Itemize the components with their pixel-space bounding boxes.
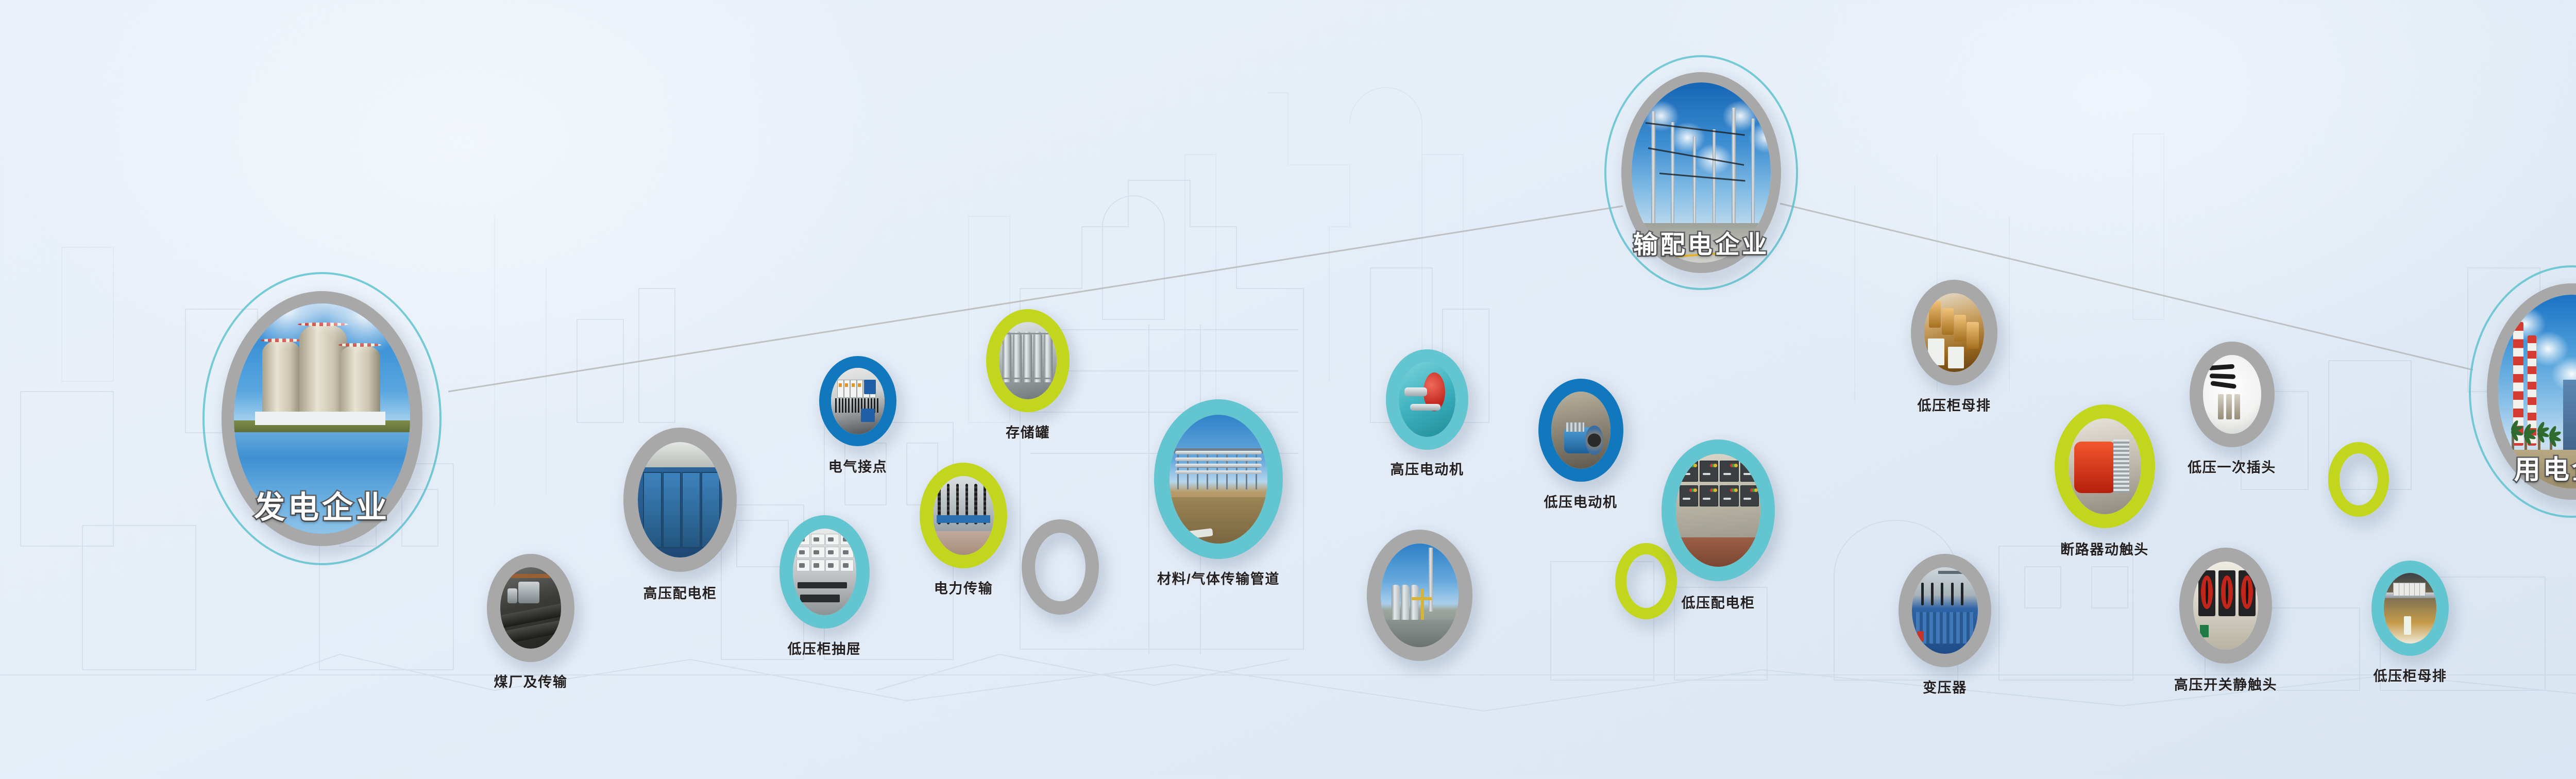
equipment-node-lv-primary-plug[interactable]: 低压一次插头 [2190, 342, 2275, 447]
equipment-label-lv-switchgear: 低压配电柜 [1681, 591, 1755, 612]
hero-node-power-consumer[interactable]: 用电企业 [2487, 283, 2576, 500]
equipment-label-hv-switchgear: 高压配电柜 [643, 582, 717, 602]
equipment-node-lv-switchgear[interactable]: 低压配电柜 [1662, 439, 1775, 581]
equipment-label-hv-motor: 高压电动机 [1390, 458, 1464, 478]
node-ring-green [2328, 442, 2389, 517]
equipment-node-lv-busbar-top[interactable]: 低压柜母排 [1911, 280, 1997, 385]
equipment-label-electrical-contact: 电气接点 [828, 455, 887, 476]
node-photo-lv-motor [1551, 392, 1611, 469]
equipment-label-hv-static-contact: 高压开关静触头 [2174, 673, 2277, 693]
equipment-node-hv-motor[interactable]: 高压电动机 [1386, 349, 1468, 450]
node-photo-hv-static-contact [2193, 562, 2258, 650]
node-photo-material-pipeline [1170, 415, 1267, 544]
equipment-label-coal-plant: 煤厂及传输 [494, 671, 567, 691]
equipment-node-breaker-contact[interactable]: 断路器动触头 [2055, 404, 2155, 528]
equipment-label-lv-busbar-top: 低压柜母排 [1917, 394, 1991, 414]
node-photo-breaker-contact [2069, 418, 2141, 514]
infographic-canvas: 煤厂及传输高压配电柜低压柜抽屉电气接点存储罐电力传输材料/气体传输管道高压电动机… [0, 0, 2576, 779]
node-photo-hv-motor [1399, 362, 1455, 437]
equipment-label-lv-drawer: 低压柜抽屉 [787, 638, 861, 658]
equipment-node-lv-motor[interactable]: 低压电动机 [1538, 379, 1623, 482]
equipment-node-lv-busbar-right[interactable]: 低压柜母排 [2371, 561, 2449, 656]
decorative-ring-decor-ring-green-right [2328, 442, 2389, 517]
node-photo-hv-switchgear [638, 442, 722, 557]
equipment-node-electrical-contact[interactable]: 电气接点 [819, 356, 896, 446]
equipment-node-storage-tank[interactable]: 存储罐 [986, 309, 1070, 412]
equipment-node-hv-static-contact[interactable]: 高压开关静触头 [2179, 548, 2272, 664]
equipment-node-power-transmission[interactable]: 电力传输 [920, 463, 1007, 568]
link-transmission-to-consumer [1780, 204, 2473, 370]
equipment-label-power-transmission: 电力传输 [934, 577, 993, 597]
hero-node-power-generation[interactable]: 发电企业 [222, 291, 422, 546]
node-photo-stack-plant [1381, 544, 1459, 647]
equipment-label-material-pipeline: 材料/气体传输管道 [1157, 568, 1280, 588]
equipment-label-lv-primary-plug: 低压一次插头 [2188, 456, 2276, 476]
equipment-node-hv-switchgear[interactable]: 高压配电柜 [623, 428, 737, 572]
node-photo-storage-tank [999, 322, 1057, 399]
node-photo-lv-primary-plug [2203, 355, 2261, 434]
hero-node-transmission[interactable]: 输配电企业 [1621, 72, 1781, 273]
equipment-node-coal-plant[interactable]: 煤厂及传输 [487, 554, 574, 662]
equipment-node-transformer[interactable]: 变压器 [1899, 554, 1991, 667]
hero-label-power-consumer: 用电企业 [2514, 456, 2576, 483]
equipment-node-lv-drawer[interactable]: 低压柜抽屉 [779, 515, 870, 629]
decorative-ring-decor-ring-gray-mid [1022, 519, 1099, 615]
equipment-label-breaker-contact: 断路器动触头 [2060, 538, 2149, 558]
equipment-label-transformer: 变压器 [1923, 676, 1967, 697]
node-photo-transformer [1912, 567, 1978, 654]
node-photo-electrical-contact [831, 368, 885, 434]
equipment-node-stack-plant[interactable] [1367, 530, 1472, 661]
node-photo-power-transmission [933, 476, 994, 555]
node-photo-lv-busbar-right [2384, 573, 2436, 643]
hero-label-power-generation: 发电企业 [254, 493, 390, 523]
equipment-label-lv-motor: 低压电动机 [1544, 491, 1617, 511]
node-photo-coal-plant [500, 567, 561, 649]
equipment-label-lv-busbar-right: 低压柜母排 [2373, 665, 2447, 685]
node-photo-lv-switchgear [1676, 454, 1760, 567]
hero-label-transmission: 输配电企业 [1633, 233, 1769, 258]
equipment-label-storage-tank: 存储罐 [1006, 421, 1050, 442]
node-photo-lv-drawer [793, 529, 856, 615]
node-photo-lv-busbar-top [1924, 293, 1984, 372]
equipment-node-material-pipeline[interactable]: 材料/气体传输管道 [1154, 399, 1283, 559]
node-ring-gray [1022, 519, 1099, 615]
